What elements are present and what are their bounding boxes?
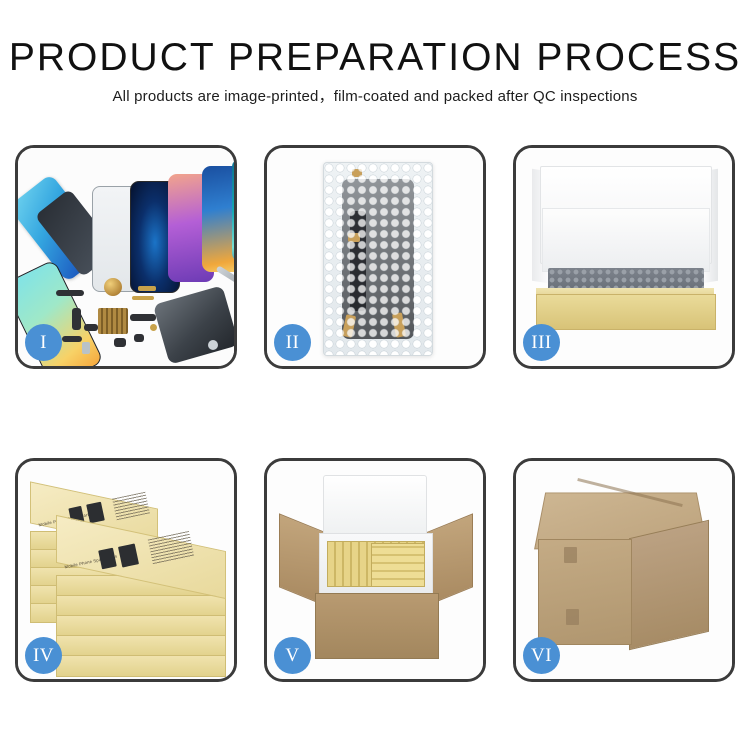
flex-cable-part-2 — [84, 324, 98, 331]
carton-front-panel — [315, 593, 439, 659]
gold-flex-part — [132, 296, 154, 300]
stacked-box-front-5 — [56, 655, 226, 677]
page-title: PRODUCT PREPARATION PROCESS — [0, 36, 750, 80]
flex-cable-part-3 — [62, 336, 82, 342]
box-front-yellow — [536, 294, 716, 330]
phone-display-teal — [232, 158, 234, 262]
flex-cable-part-4 — [130, 314, 156, 321]
panel-step-3: III — [513, 145, 735, 369]
step-badge-2: II — [274, 324, 311, 361]
white-foam-sheet — [542, 208, 710, 272]
carton-tape-upper — [564, 547, 577, 563]
logic-board-chip — [98, 308, 128, 334]
bubble-wrap-bag — [323, 162, 433, 356]
page-subtitle: All products are image-printed，film-coat… — [0, 87, 750, 107]
packed-yellow-boxes-right — [371, 543, 425, 587]
stacked-box-front-4 — [56, 635, 226, 657]
step-badge-4: IV — [25, 637, 62, 674]
step-badge-1: I — [25, 324, 62, 361]
process-steps-grid: I II III — [15, 145, 736, 682]
step-badge-5: V — [274, 637, 311, 674]
vibration-motor-part — [104, 278, 122, 296]
foam-box-lid — [323, 475, 427, 539]
page-header: PRODUCT PREPARATION PROCESS All products… — [0, 0, 750, 107]
tape-top — [352, 169, 362, 177]
stacked-box-front-3 — [56, 615, 226, 637]
phone-display-orange — [202, 166, 234, 272]
flex-cable-part-1 — [72, 308, 81, 330]
panel-step-1: I — [15, 145, 237, 369]
panel-step-5: V — [264, 458, 486, 682]
carton-side-face — [629, 520, 709, 650]
screw-part — [150, 324, 157, 331]
gold-contact-part — [138, 286, 156, 291]
step-badge-3: III — [523, 324, 560, 361]
carton-front-face — [538, 539, 632, 645]
tape-middle — [348, 233, 360, 242]
speaker-part — [114, 338, 126, 347]
sim-tray-part — [82, 342, 90, 354]
wrapped-screen-flex — [350, 211, 366, 311]
panel-step-2: II — [264, 145, 486, 369]
battery-connector-part — [56, 290, 84, 296]
stacked-box-front-2 — [56, 595, 226, 617]
panel-step-6: VI — [513, 458, 735, 682]
step-badge-6: VI — [523, 637, 560, 674]
carton-tape-lower — [566, 609, 579, 625]
camera-module-part — [134, 334, 144, 342]
panel-step-4: Mobile Phone Spare Parts Mobile Phone Sp… — [15, 458, 237, 682]
small-screw-part — [208, 340, 218, 350]
